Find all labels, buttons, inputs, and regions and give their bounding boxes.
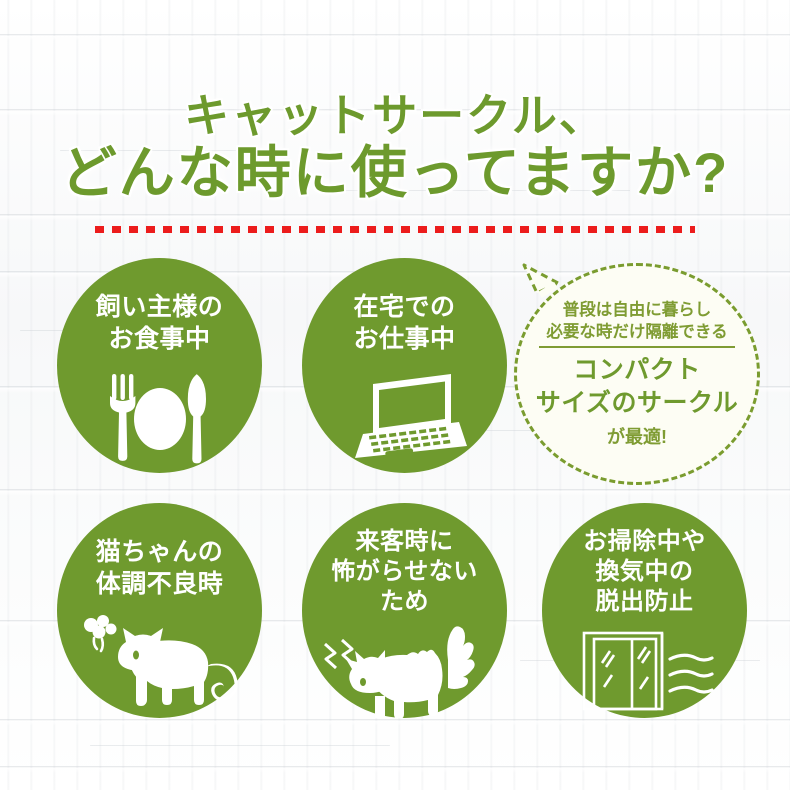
- wood-grain: [90, 745, 390, 746]
- benefit-circle-cat-unwell[interactable]: 猫ちゃんの 体調不良時: [57, 503, 262, 718]
- frightened-cat-icon: [302, 626, 507, 718]
- plank-seam: [0, 34, 790, 36]
- title-line-2: どんな時に使ってますか?: [0, 143, 790, 203]
- compact-size-callout-bubble: 普段は自由に暮らし 必要な時だけ隔離できる コンパクト サイズのサークル が最適…: [514, 263, 760, 485]
- laptop-icon: [302, 363, 507, 473]
- circle-label: 猫ちゃんの 体調不良時: [90, 537, 230, 600]
- circle-label: 飼い主様の お食事中: [90, 292, 230, 355]
- plank-seam: [0, 766, 790, 768]
- circle-label: 来客時に 怖がらせない ため: [325, 527, 484, 618]
- benefit-circle-owner-meal[interactable]: 飼い主様の お食事中: [57, 258, 262, 473]
- circle-label: お掃除中や 換気中の 脱出防止: [577, 527, 712, 618]
- circle-label: 在宅での お仕事中: [347, 292, 461, 355]
- bubble-big-text: コンパクト サイズのサークル: [536, 354, 739, 419]
- benefit-circle-guest-visit[interactable]: 来客時に 怖がらせない ため: [302, 503, 507, 718]
- plank-seam: [0, 214, 790, 216]
- plank-seam: [0, 489, 790, 491]
- plank-seam: [0, 719, 790, 721]
- sick-cat-icon: [57, 608, 262, 718]
- infographic-canvas: キャットサークル、 どんな時に使ってますか? 飼い主様の お食事中: [0, 0, 790, 790]
- page-title: キャットサークル、 どんな時に使ってますか?: [0, 92, 790, 203]
- fork-plate-knife-icon: [57, 363, 262, 473]
- bubble-tail-text: が最適!: [607, 423, 667, 449]
- bubble-underline: [539, 346, 735, 348]
- open-window-breeze-icon: [542, 626, 747, 718]
- title-line-1: キャットサークル、: [0, 92, 790, 141]
- benefit-circle-escape-prevention[interactable]: お掃除中や 換気中の 脱出防止: [542, 503, 747, 718]
- benefit-circle-work-from-home[interactable]: 在宅での お仕事中: [302, 258, 507, 473]
- bubble-small-text: 普段は自由に暮らし 必要な時だけ隔離できる: [546, 299, 727, 344]
- red-dashed-divider: [95, 226, 695, 233]
